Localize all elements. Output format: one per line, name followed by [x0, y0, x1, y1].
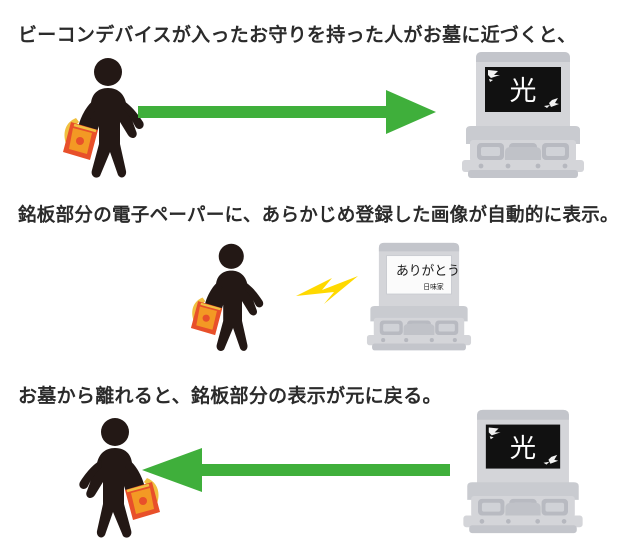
- arrow-leave-left: [140, 446, 450, 494]
- step-1-caption: ビーコンデバイスが入ったお守りを持った人がお墓に近づくと、: [18, 20, 576, 47]
- gravestone-1: 光: [448, 48, 598, 183]
- arrow-right-icon: [138, 88, 438, 136]
- step-3-row: 光: [0, 408, 640, 533]
- step-2-row: ありがとう 日味家: [0, 240, 640, 365]
- arrow-approach-right: [138, 88, 438, 136]
- gravestone-icon: 光: [448, 406, 598, 538]
- gravestone-3: 光: [448, 406, 598, 538]
- gravestone-icon: 光: [448, 48, 598, 183]
- gravestone-icon: ありがとう 日味家: [355, 238, 483, 356]
- gravestone-2: ありがとう 日味家: [355, 238, 483, 356]
- gravestone-screen-text-3: 光: [510, 433, 536, 464]
- person-pictogram-icon: [186, 242, 281, 354]
- person-with-charm-2: [186, 242, 281, 354]
- lightning-bolt-icon: [294, 270, 362, 312]
- step-2-caption: 銘板部分の電子ペーパーに、あらかじめ登録した画像が自動的に表示。: [18, 201, 619, 227]
- arrow-left-icon: [140, 446, 450, 494]
- beacon-signal-2: [294, 270, 362, 317]
- gravestone-screen-text-1: 光: [510, 76, 537, 107]
- step-1-row: 光: [0, 48, 640, 188]
- gravestone-screen-subtext-2: 日味家: [423, 282, 444, 291]
- step-3-caption: お墓から離れると、銘板部分の表示が元に戻る。: [18, 381, 442, 408]
- gravestone-screen-text-2: ありがとう: [396, 264, 460, 279]
- diagram-canvas: ビーコンデバイスが入ったお守りを持った人がお墓に近づくと、: [0, 0, 640, 533]
